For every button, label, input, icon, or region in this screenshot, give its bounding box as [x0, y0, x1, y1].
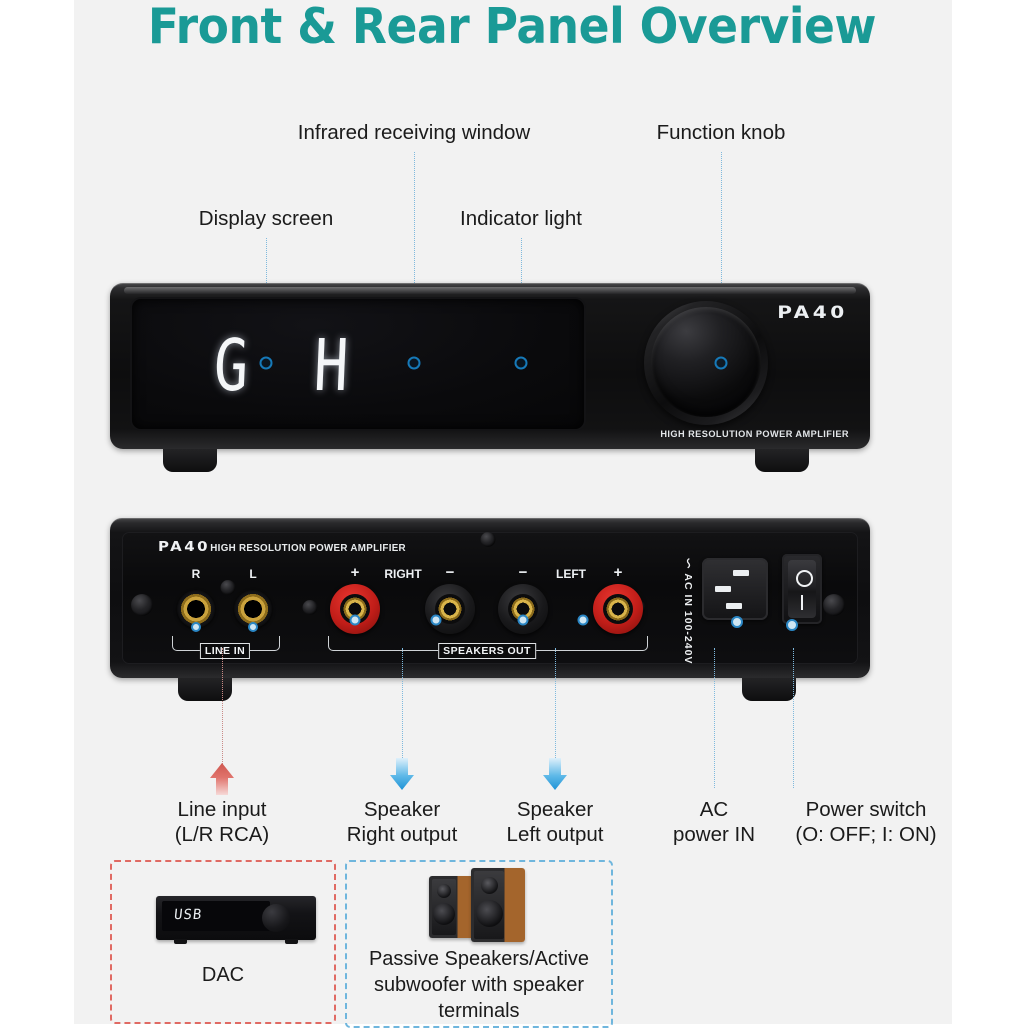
leader-ac-power-in: [714, 648, 715, 788]
dac-caption: DAC: [112, 962, 334, 988]
speakers-caption-l1: Passive Speakers/Active: [347, 946, 611, 972]
dot-infrared-window: [408, 357, 421, 370]
dot-speaker-left: [431, 615, 442, 626]
power-switch[interactable]: [782, 554, 822, 624]
dot-rca-right: [191, 622, 201, 632]
binding-post-left-negative[interactable]: [498, 584, 548, 634]
dot-function-knob: [715, 357, 728, 370]
front-panel-device: G H PA40 HIGH RESOLUTION POWER AMPLIFIER: [110, 283, 870, 449]
dac-display: USB: [162, 901, 270, 931]
knob-inner-face: [651, 307, 761, 417]
terminal-label-left: LEFT: [556, 567, 586, 581]
front-subtitle: HIGH RESOLUTION POWER AMPLIFIER: [660, 429, 849, 439]
arrow-down-icon-speaker-right: [389, 757, 415, 791]
speaker-woofer: [433, 903, 455, 925]
label-power-switch-l2: (O: OFF; I: ON): [795, 822, 936, 847]
chassis-screw-right: [823, 594, 845, 616]
leader-speaker-left: [555, 648, 556, 760]
binding-post-ring: [603, 594, 633, 624]
binding-post-left-positive[interactable]: [593, 584, 643, 634]
terminal-label-left-plus: +: [614, 564, 623, 581]
callout-infrared-window: Infrared receiving window: [298, 120, 530, 145]
binding-post-right-negative[interactable]: [425, 584, 475, 634]
arrow-up-icon-line-input: [209, 762, 235, 796]
label-speaker-right-l2: Right output: [347, 822, 458, 847]
page-title: Front & Rear Panel Overview: [36, 0, 988, 55]
dot-ac-power-in: [731, 616, 743, 628]
rear-brand-logo: PA40: [158, 540, 210, 555]
label-speaker-right-output: Speaker Right output: [347, 797, 458, 847]
speaker-right-image: [471, 868, 525, 942]
label-speaker-left-l2: Left output: [507, 822, 604, 847]
dot-display-screen: [260, 357, 273, 370]
callout-indicator-light: Indicator light: [460, 206, 582, 231]
front-foot-left: [163, 449, 217, 472]
chassis-screw-mid-left: [303, 600, 318, 615]
label-power-switch-l1: Power switch: [795, 797, 936, 822]
chassis-screw-rca: [221, 580, 236, 595]
dot-speaker-left-minus: [518, 615, 529, 626]
front-foot-right: [755, 449, 809, 472]
terminal-label-left-minus: −: [519, 564, 528, 581]
line-in-tag: LINE IN: [200, 643, 250, 659]
dot-rca-left: [248, 622, 258, 632]
terminal-label-right-plus: +: [351, 564, 360, 581]
rear-branding: PA40 HIGH RESOLUTION POWER AMPLIFIER: [158, 540, 406, 555]
speakers-caption-l2: subwoofer with speaker: [347, 972, 611, 998]
speakers-box: Passive Speakers/Active subwoofer with s…: [345, 860, 613, 1028]
dac-foot-right: [285, 939, 298, 944]
dac-display-text: USB: [173, 907, 203, 923]
rca-label-right: R: [192, 567, 201, 581]
dac-box: USB DAC: [110, 860, 336, 1024]
iec-slot-live: [733, 570, 749, 576]
speakers-caption-l3: terminals: [347, 998, 611, 1024]
label-speaker-left-output: Speaker Left output: [507, 797, 604, 847]
speaker-left-image: [429, 876, 475, 938]
terminal-label-right: RIGHT: [384, 567, 421, 581]
binding-post-right-positive[interactable]: [330, 584, 380, 634]
label-line-input-l2: (L/R RCA): [175, 822, 270, 847]
dot-speaker-right: [350, 615, 361, 626]
arrow-down-icon-speaker-left: [542, 757, 568, 791]
switch-off-symbol-icon: [796, 570, 813, 587]
label-ac-power-in: AC power IN: [673, 797, 755, 847]
speaker-tweeter: [481, 877, 498, 894]
chassis-screw-top-center: [481, 532, 496, 547]
rear-panel-device: PA40 HIGH RESOLUTION POWER AMPLIFIER R L…: [110, 518, 870, 678]
label-line-input: Line input (L/R RCA): [175, 797, 270, 847]
speaker-woofer: [476, 900, 503, 927]
label-speaker-right-l1: Speaker: [347, 797, 458, 822]
iec-slot-neutral: [715, 586, 731, 592]
label-line-input-l1: Line input: [175, 797, 270, 822]
terminal-label-right-minus: −: [446, 564, 455, 581]
ac-power-inlet[interactable]: [702, 558, 768, 620]
label-ac-power-l2: power IN: [673, 822, 755, 847]
leader-power-switch: [793, 648, 794, 788]
rear-subtitle: HIGH RESOLUTION POWER AMPLIFIER: [210, 543, 406, 554]
speaker-tweeter: [437, 884, 451, 898]
switch-on-symbol-icon: [801, 595, 804, 610]
label-power-switch: Power switch (O: OFF; I: ON): [795, 797, 936, 847]
leader-speaker-right: [402, 648, 403, 760]
front-top-highlight: [124, 287, 856, 294]
display-char-1: G: [212, 325, 252, 408]
front-brand-logo: PA40: [778, 303, 848, 323]
chassis-screw-left: [131, 594, 153, 616]
rear-foot-right: [742, 678, 796, 701]
callout-function-knob: Function knob: [657, 120, 786, 145]
display-char-2: H: [312, 325, 352, 408]
dot-speaker-right-minus: [578, 615, 589, 626]
leader-line-input: [222, 648, 223, 770]
dac-foot-left: [174, 939, 187, 944]
label-ac-power-l1: AC: [673, 797, 755, 822]
dot-indicator-light: [515, 357, 528, 370]
speakers-caption: Passive Speakers/Active subwoofer with s…: [347, 946, 611, 1024]
rca-label-left: L: [249, 567, 256, 581]
iec-slot-earth: [726, 603, 742, 609]
callout-display-screen: Display screen: [199, 206, 333, 231]
function-knob[interactable]: [644, 301, 768, 425]
dot-power-switch: [786, 619, 798, 631]
dac-knob: [262, 904, 290, 932]
speakers-out-tag: SPEAKERS OUT: [438, 643, 536, 659]
rear-foot-left: [178, 678, 232, 701]
ac-voltage-label: 〜 AC IN 100-240V: [681, 558, 696, 664]
label-speaker-left-l1: Speaker: [507, 797, 604, 822]
infographic-page: Front & Rear Panel Overview Display scre…: [0, 0, 1024, 1024]
dac-device: USB: [156, 896, 316, 940]
